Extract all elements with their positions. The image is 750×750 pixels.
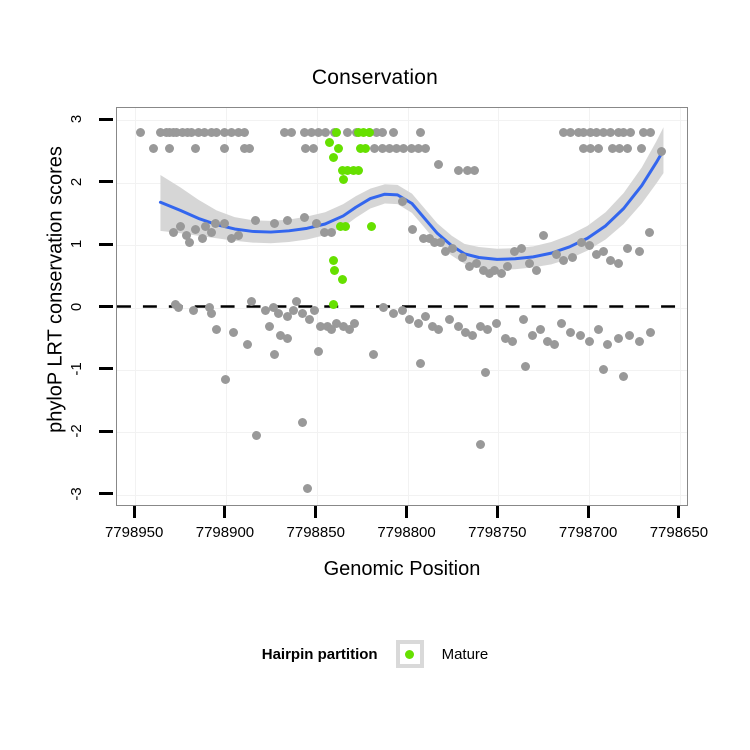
scatter-point	[229, 328, 238, 337]
scatter-point	[245, 144, 254, 153]
scatter-point	[354, 166, 363, 175]
scatter-point	[185, 238, 194, 247]
scatter-point	[416, 359, 425, 368]
scatter-point	[211, 219, 220, 228]
x-tick-label: 7798650	[619, 524, 739, 541]
scatter-point	[149, 144, 158, 153]
y-tick-text: -3	[67, 479, 87, 509]
plot-panel	[116, 107, 688, 506]
scatter-point	[470, 166, 479, 175]
scatter-point	[329, 153, 338, 162]
scatter-point	[454, 166, 463, 175]
scatter-point	[189, 306, 198, 315]
y-tick-label: 0	[62, 297, 92, 317]
scatter-point	[220, 219, 229, 228]
scatter-point	[458, 253, 467, 262]
scatter-point	[289, 306, 298, 315]
scatter-point	[309, 144, 318, 153]
legend-title: Hairpin partition	[262, 646, 378, 663]
y-tick-label: -3	[62, 484, 92, 504]
scatter-point	[576, 331, 585, 340]
y-tick-text: 3	[67, 104, 87, 134]
scatter-point	[300, 213, 309, 222]
y-tick-mark	[99, 243, 113, 246]
scatter-point	[414, 319, 423, 328]
scatter-point	[350, 319, 359, 328]
scatter-point	[369, 350, 378, 359]
scatter-point	[398, 197, 407, 206]
x-tick-mark	[405, 506, 408, 518]
scatter-point	[176, 222, 185, 231]
scatter-point	[476, 440, 485, 449]
y-tick-text: 2	[67, 167, 87, 197]
scatter-point	[398, 306, 407, 315]
x-tick-mark	[223, 506, 226, 518]
scatter-point	[594, 325, 603, 334]
y-tick-text: 1	[67, 229, 87, 259]
scatter-point	[389, 309, 398, 318]
scatter-point	[312, 219, 321, 228]
scatter-point	[251, 216, 260, 225]
y-tick-mark	[99, 305, 113, 308]
chart-root: Conservation phyloP LRT conservation sco…	[0, 0, 750, 750]
y-tick-label: 3	[62, 109, 92, 129]
scatter-point	[334, 144, 343, 153]
y-tick-mark	[99, 118, 113, 121]
scatter-point	[325, 138, 334, 147]
scatter-point	[338, 275, 347, 284]
scatter-point	[191, 225, 200, 234]
scatter-point	[434, 325, 443, 334]
scatter-point	[303, 484, 312, 493]
legend: Hairpin partition Mature	[0, 640, 750, 668]
scatter-point	[614, 259, 623, 268]
legend-label-mature: Mature	[442, 646, 489, 663]
x-tick-mark	[587, 506, 590, 518]
y-tick-text: -1	[67, 354, 87, 384]
scatter-point	[599, 247, 608, 256]
x-axis-label: Genomic Position	[116, 558, 688, 581]
scatter-point	[314, 347, 323, 356]
y-tick-label: -1	[62, 359, 92, 379]
page-title: Conservation	[0, 66, 750, 90]
scatter-point	[585, 337, 594, 346]
scatter-point	[436, 238, 445, 247]
legend-key-mature[interactable]	[396, 640, 424, 668]
scatter-point	[614, 334, 623, 343]
scatter-point	[265, 322, 274, 331]
scatter-point	[220, 144, 229, 153]
scatter-point	[557, 319, 566, 328]
scatter-point	[247, 297, 256, 306]
legend-dot-icon	[405, 650, 414, 659]
scatter-point	[292, 297, 301, 306]
scatter-point	[594, 144, 603, 153]
y-tick-mark	[99, 492, 113, 495]
scatter-point	[389, 128, 398, 137]
scatter-point	[283, 216, 292, 225]
scatter-point	[298, 418, 307, 427]
y-tick-mark	[99, 430, 113, 433]
scatter-point	[532, 266, 541, 275]
scatter-point	[434, 160, 443, 169]
x-tick-mark	[133, 506, 136, 518]
y-tick-text: -2	[67, 416, 87, 446]
x-tick-mark	[677, 506, 680, 518]
scatter-point	[623, 144, 632, 153]
scatter-point	[619, 372, 628, 381]
scatter-point	[483, 325, 492, 334]
y-tick-label: 1	[62, 234, 92, 254]
scatter-point	[327, 228, 336, 237]
x-tick-mark	[314, 506, 317, 518]
scatter-point	[625, 331, 634, 340]
scatter-point	[585, 241, 594, 250]
y-tick-mark	[99, 367, 113, 370]
scatter-point	[623, 244, 632, 253]
scatter-point	[645, 228, 654, 237]
scatter-point	[191, 144, 200, 153]
scatter-point	[536, 325, 545, 334]
y-tick-text: 0	[67, 292, 87, 322]
y-tick-label: -2	[62, 421, 92, 441]
scatter-point	[367, 222, 376, 231]
scatter-point	[330, 266, 339, 275]
y-tick-mark	[99, 180, 113, 183]
scatter-point	[329, 256, 338, 265]
x-tick-mark	[496, 506, 499, 518]
scatter-point	[492, 319, 501, 328]
scatter-point	[329, 300, 338, 309]
y-tick-label: 2	[62, 172, 92, 192]
